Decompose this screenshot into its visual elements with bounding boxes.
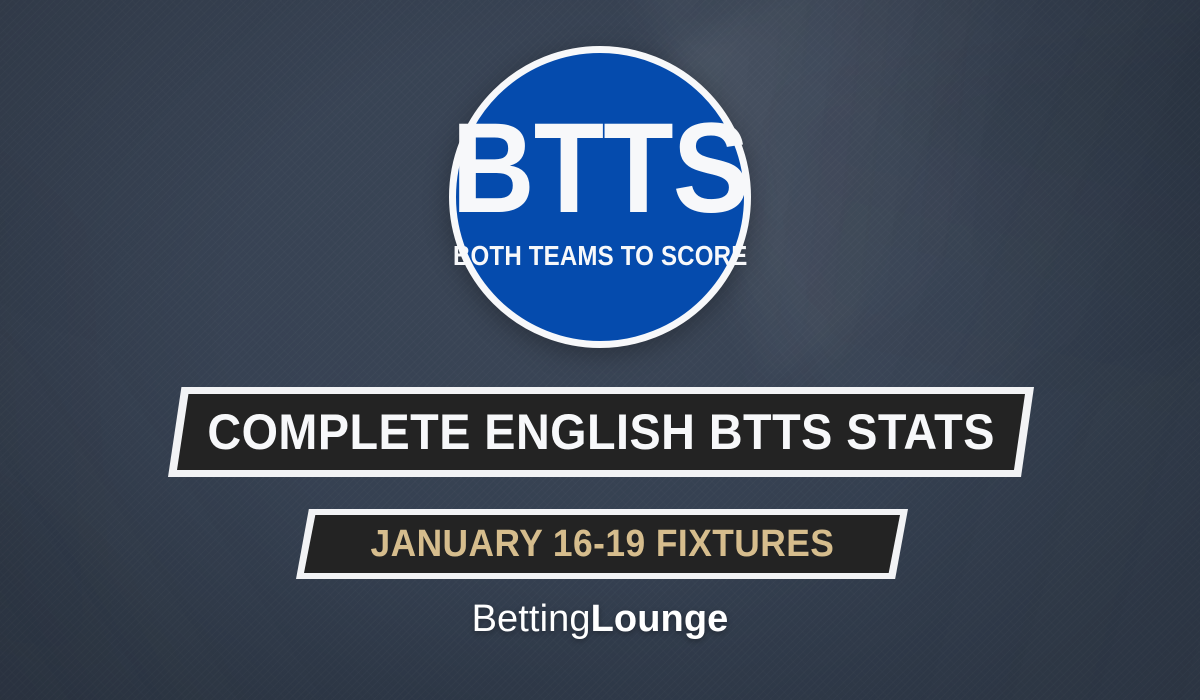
subtitle-banner: JANUARY 16-19 FIXTURES: [296, 509, 908, 579]
btts-logo-badge: BTTS BOTH TEAMS TO SCORE: [449, 46, 751, 348]
brand-name-second: Lounge: [591, 598, 729, 640]
subtitle-banner-fill: JANUARY 16-19 FIXTURES: [304, 515, 900, 573]
page-subtitle: JANUARY 16-19 FIXTURES: [370, 523, 834, 566]
headline-banner-fill: COMPLETE ENGLISH BTTS STATS: [177, 394, 1025, 470]
brand-wordmark: BettingLounge: [0, 597, 1200, 643]
btts-logo-acronym: BTTS: [451, 118, 748, 220]
page-title: COMPLETE ENGLISH BTTS STATS: [207, 403, 994, 461]
btts-logo-tagline: BOTH TEAMS TO SCORE: [453, 242, 747, 270]
brand-name-first: Betting: [472, 598, 591, 640]
headline-banner: COMPLETE ENGLISH BTTS STATS: [168, 387, 1034, 477]
promo-graphic: BTTS BOTH TEAMS TO SCORE COMPLETE ENGLIS…: [0, 0, 1200, 700]
